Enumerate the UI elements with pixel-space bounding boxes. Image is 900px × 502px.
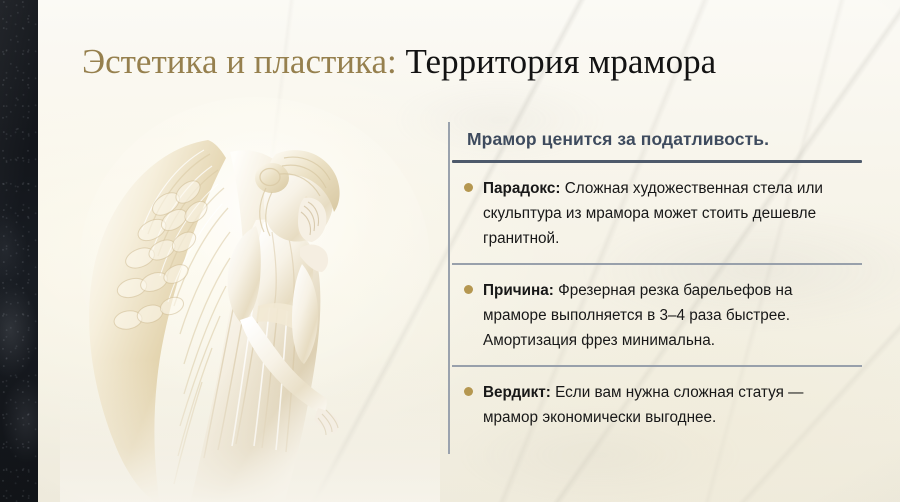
bullet-item-3: Вердикт: Если вам нужна сложная статуя —…	[450, 367, 862, 442]
bullet-text-1: Парадокс: Сложная художественная стела и…	[483, 176, 856, 251]
title-main-text: Территория мрамора	[397, 42, 716, 81]
title-accent-text: Эстетика и пластика:	[82, 42, 397, 81]
bullet-lead-2: Причина:	[483, 282, 554, 299]
left-granite-strip	[0, 0, 38, 502]
panel-heading: Мрамор ценится за податливость.	[450, 122, 862, 150]
bullet-dot-icon	[464, 285, 473, 294]
statue-bottom-fade	[60, 242, 440, 502]
bullet-text-3: Вердикт: Если вам нужна сложная статуя —…	[483, 380, 856, 430]
bullet-dot-icon	[464, 183, 473, 192]
granite-speckle-texture	[0, 0, 38, 502]
bullet-item-2: Причина: Фрезерная резка барельефов на м…	[450, 265, 862, 365]
bullet-item-1: Парадокс: Сложная художественная стела и…	[450, 163, 862, 263]
slide-canvas: Эстетика и пластика: Территория мрамора	[0, 0, 900, 502]
angel-statue-image	[60, 92, 440, 502]
bullet-lead-3: Вердикт:	[483, 384, 551, 401]
content-panel: Мрамор ценится за податливость. Парадокс…	[448, 122, 862, 454]
slide-title: Эстетика и пластика: Территория мрамора	[82, 40, 872, 84]
bullet-lead-1: Парадокс:	[483, 180, 560, 197]
bullet-dot-icon	[464, 387, 473, 396]
bullet-text-2: Причина: Фрезерная резка барельефов на м…	[483, 278, 856, 353]
angel-statue-illustration	[60, 92, 440, 502]
